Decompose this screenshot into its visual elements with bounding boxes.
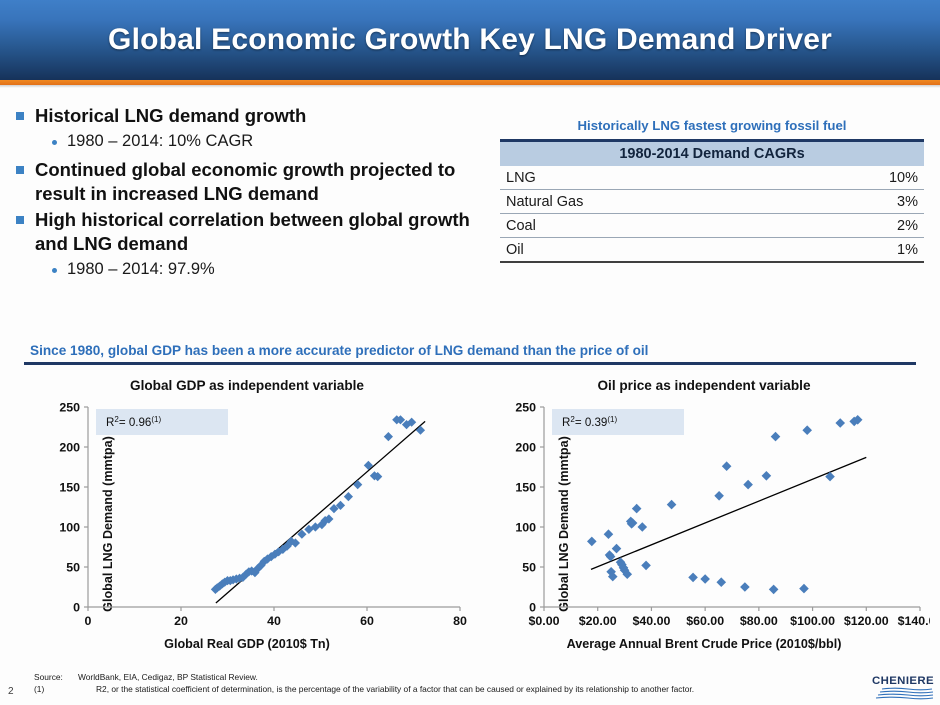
dot-bullet-icon bbox=[52, 140, 57, 145]
fuel-cagr: 1% bbox=[791, 238, 924, 263]
plot-area: Global LNG Demand (mmtpa) 05010015020025… bbox=[22, 399, 472, 649]
bullet-item: High historical correlation between glob… bbox=[14, 208, 492, 255]
square-bullet-icon bbox=[16, 216, 24, 224]
table-row: Oil 1% bbox=[500, 238, 924, 263]
fuel-cagr: 2% bbox=[791, 214, 924, 238]
fuel-cagr: 10% bbox=[791, 166, 924, 190]
slide: Global Economic Growth Key LNG Demand Dr… bbox=[0, 0, 940, 705]
logo-text: CHENIERE bbox=[856, 676, 934, 687]
sub-bullet-text: 1980 – 2014: 97.9% bbox=[67, 259, 215, 280]
bullet-item: Continued global economic growth project… bbox=[14, 158, 492, 205]
section-rule bbox=[24, 362, 916, 365]
fuel-name: Oil bbox=[500, 238, 791, 263]
fuel-name: Natural Gas bbox=[500, 190, 791, 214]
source-label: Source: bbox=[34, 671, 78, 683]
svg-text:250: 250 bbox=[515, 401, 536, 415]
footnotes: Source: WorldBank, EIA, Cedigaz, BP Stat… bbox=[34, 671, 824, 695]
svg-text:$40.00: $40.00 bbox=[632, 614, 670, 628]
table-row: Natural Gas 3% bbox=[500, 190, 924, 214]
scatter-plot-svg: 050100150200250$0.00$20.00$40.00$60.00$8… bbox=[478, 399, 930, 649]
title-shadow bbox=[0, 85, 940, 88]
svg-text:0: 0 bbox=[529, 601, 536, 615]
svg-text:200: 200 bbox=[59, 441, 80, 455]
page-title: Global Economic Growth Key LNG Demand Dr… bbox=[108, 23, 832, 57]
svg-text:$20.00: $20.00 bbox=[579, 614, 617, 628]
svg-text:200: 200 bbox=[515, 441, 536, 455]
svg-text:$100.00: $100.00 bbox=[790, 614, 835, 628]
dot-bullet-icon bbox=[52, 268, 57, 273]
svg-text:40: 40 bbox=[267, 614, 281, 628]
chart-title: Global GDP as independent variable bbox=[22, 378, 472, 393]
table-caption: Historically LNG fastest growing fossil … bbox=[500, 118, 924, 133]
svg-text:100: 100 bbox=[515, 521, 536, 535]
svg-text:20: 20 bbox=[174, 614, 188, 628]
svg-text:$80.00: $80.00 bbox=[740, 614, 778, 628]
chart-gdp: Global GDP as independent variable Globa… bbox=[22, 378, 472, 663]
svg-text:150: 150 bbox=[515, 481, 536, 495]
bullet-text: Continued global economic growth project… bbox=[35, 158, 492, 205]
bullet-list: Historical LNG demand growth 1980 – 2014… bbox=[14, 104, 492, 286]
square-bullet-icon bbox=[16, 166, 24, 174]
svg-text:50: 50 bbox=[522, 561, 536, 575]
section-caption: Since 1980, global GDP has been a more a… bbox=[30, 343, 910, 358]
chart-oil: Oil price as independent variable Global… bbox=[478, 378, 930, 663]
svg-text:250: 250 bbox=[59, 401, 80, 415]
table-body: LNG 10% Natural Gas 3% Coal 2% Oil 1% bbox=[500, 166, 924, 262]
sub-bullet-text: 1980 – 2014: 10% CAGR bbox=[67, 131, 253, 152]
svg-text:$140.00: $140.00 bbox=[898, 614, 930, 628]
bullet-text: High historical correlation between glob… bbox=[35, 208, 492, 255]
table-row: Coal 2% bbox=[500, 214, 924, 238]
bullet-text: Historical LNG demand growth bbox=[35, 104, 306, 128]
svg-text:$0.00: $0.00 bbox=[528, 614, 559, 628]
cagr-table: 1980-2014 Demand CAGRs LNG 10% Natural G… bbox=[500, 139, 924, 263]
bullet-item: Historical LNG demand growth bbox=[14, 104, 492, 128]
svg-text:150: 150 bbox=[59, 481, 80, 495]
svg-text:60: 60 bbox=[360, 614, 374, 628]
title-banner: Global Economic Growth Key LNG Demand Dr… bbox=[0, 0, 940, 80]
fuel-name: Coal bbox=[500, 214, 791, 238]
table-header-row: 1980-2014 Demand CAGRs bbox=[500, 141, 924, 167]
fuel-cagr: 3% bbox=[791, 190, 924, 214]
table-header-label: 1980-2014 Demand CAGRs bbox=[500, 141, 924, 167]
square-bullet-icon bbox=[16, 112, 24, 120]
note-text: R2, or the statistical coefficient of de… bbox=[96, 683, 694, 695]
cagr-table-block: Historically LNG fastest growing fossil … bbox=[500, 118, 924, 263]
table-row: LNG 10% bbox=[500, 166, 924, 190]
x-axis-label: Global Real GDP (2010$ Tn) bbox=[22, 637, 472, 651]
wave-logo-icon bbox=[856, 687, 934, 700]
source-row: Source: WorldBank, EIA, Cedigaz, BP Stat… bbox=[34, 671, 824, 683]
sub-bullet-item: 1980 – 2014: 97.9% bbox=[52, 259, 492, 280]
svg-text:80: 80 bbox=[453, 614, 467, 628]
svg-text:0: 0 bbox=[73, 601, 80, 615]
page-number: 2 bbox=[8, 686, 14, 697]
svg-text:$60.00: $60.00 bbox=[686, 614, 724, 628]
source-text: WorldBank, EIA, Cedigaz, BP Statistical … bbox=[78, 671, 258, 683]
x-axis-label: Average Annual Brent Crude Price (2010$/… bbox=[478, 637, 930, 651]
svg-text:100: 100 bbox=[59, 521, 80, 535]
fuel-name: LNG bbox=[500, 166, 791, 190]
svg-text:$120.00: $120.00 bbox=[844, 614, 889, 628]
chart-title: Oil price as independent variable bbox=[478, 378, 930, 393]
note-label: (1) bbox=[34, 683, 96, 695]
cheniere-logo: CHENIERE bbox=[856, 676, 934, 702]
note-row: (1) R2, or the statistical coefficient o… bbox=[34, 683, 824, 695]
svg-text:0: 0 bbox=[85, 614, 92, 628]
sub-bullet-item: 1980 – 2014: 10% CAGR bbox=[52, 131, 492, 152]
scatter-plot-svg: 050100150200250020406080R2= 0.96(1) bbox=[22, 399, 472, 649]
svg-text:50: 50 bbox=[66, 561, 80, 575]
plot-area: Global LNG Demand (mmtpa) 05010015020025… bbox=[478, 399, 930, 649]
